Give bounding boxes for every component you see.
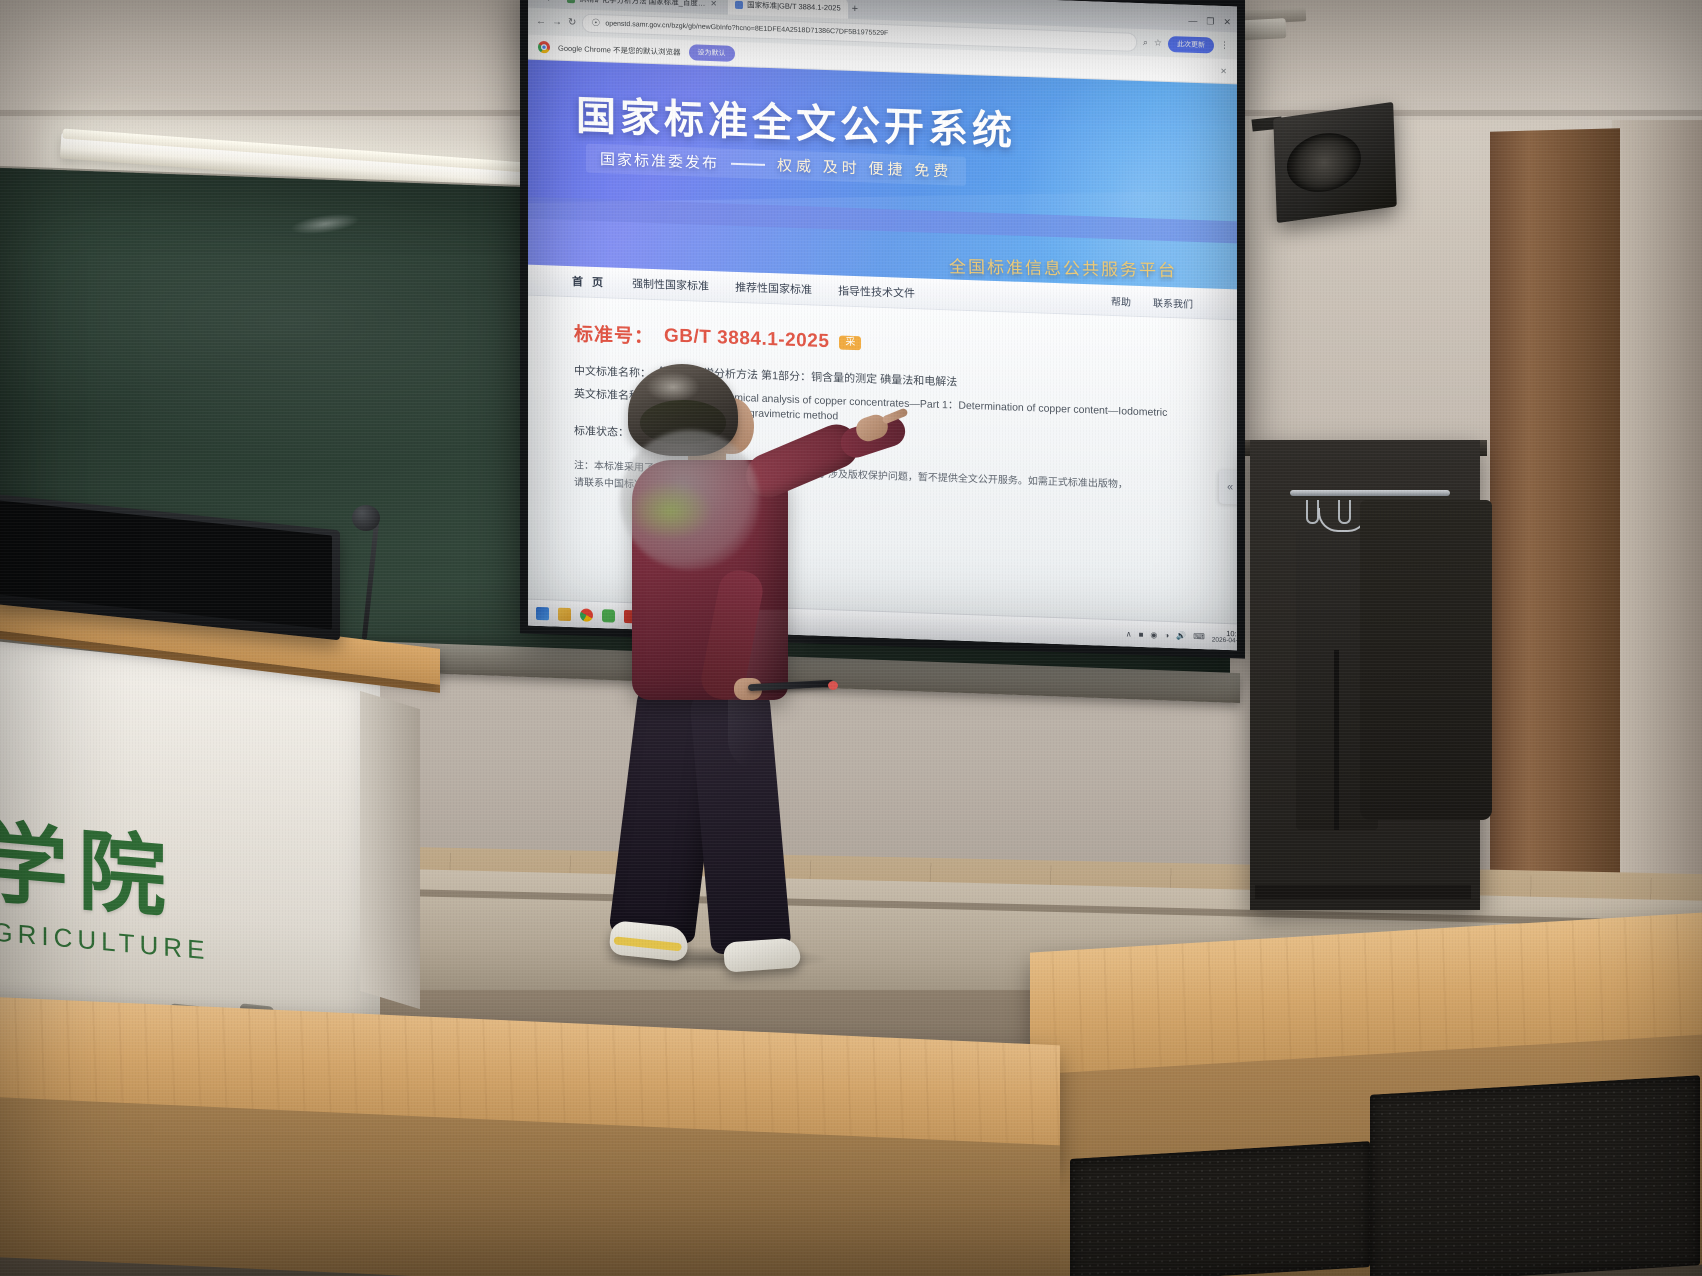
hanging-coat xyxy=(1360,500,1492,820)
close-icon[interactable]: ✕ xyxy=(710,0,717,8)
presenter-shadow-green-tint xyxy=(628,482,712,540)
address-bar-url: openstd.samr.gov.cn/bzgk/gb/newGbInfo?hc… xyxy=(605,20,888,37)
wall-speaker xyxy=(1273,102,1397,223)
subtitle-divider xyxy=(731,162,765,165)
close-icon[interactable]: ✕ xyxy=(1220,66,1227,75)
clock-date: 2026-04-08 xyxy=(1212,637,1237,645)
institution-logo-chinese: 学院 xyxy=(0,791,176,935)
desk-speaker-grille-center xyxy=(1070,1141,1370,1276)
tab-favicon xyxy=(567,0,575,3)
system-tray: ∧ ■ ◉ ◑ 🔊 ⌨ 10:50 2026-04-08 xyxy=(1126,626,1237,645)
tray-expand-icon[interactable]: ∧ xyxy=(1126,629,1132,638)
start-icon[interactable] xyxy=(536,606,549,619)
overflow-menu-icon[interactable]: ⋮ xyxy=(1220,40,1229,51)
right-wall-panel xyxy=(1612,120,1702,920)
laser-pointer-tip-icon xyxy=(828,681,838,690)
tab-title: 铜精矿化学分析方法 国家标准_百度搜索 xyxy=(579,0,706,9)
tray-volume-icon[interactable]: 🔊 xyxy=(1176,631,1186,640)
forward-icon[interactable]: → xyxy=(552,16,562,27)
close-window-icon[interactable]: ✕ xyxy=(1223,17,1231,28)
chrome-logo-icon xyxy=(538,41,550,53)
nav-item-mandatory-standards[interactable]: 强制性国家标准 xyxy=(632,275,709,294)
tab-title: 国家标准|GB/T 3884.1-2025 xyxy=(747,0,841,14)
platform-seal: 全国标准信息公共服务平台 xyxy=(949,252,1177,281)
browser-nav-mini: ↻ ⇄ xyxy=(534,0,554,9)
update-button[interactable]: 此次更新 xyxy=(1168,35,1214,53)
maximize-icon[interactable]: ❐ xyxy=(1206,16,1214,27)
standard-number-value: GB/T 3884.1-2025 xyxy=(664,325,829,353)
site-settings-icon[interactable]: ⇄ xyxy=(547,0,555,4)
lectern-side xyxy=(360,691,420,1009)
site-subtitle-right: 权威 及时 便捷 免费 xyxy=(777,154,952,181)
presenter-hair-highlight xyxy=(646,372,700,402)
nav-item-home[interactable]: 首 页 xyxy=(572,273,606,290)
reload-icon[interactable]: ↻ xyxy=(568,17,576,28)
nav-item-help[interactable]: 帮助 xyxy=(1111,292,1131,308)
presenter-shoe-right xyxy=(723,937,801,972)
microphone-icon xyxy=(352,505,380,531)
nav-item-guidance-documents[interactable]: 指导性技术文件 xyxy=(838,282,915,301)
back-icon[interactable]: ← xyxy=(536,16,546,27)
infobar-message: Google Chrome 不是您的默认浏览器 xyxy=(558,42,681,57)
tray-battery-icon[interactable]: ◑ xyxy=(1164,630,1169,639)
adopted-badge: 采 xyxy=(839,335,861,350)
nav-right-group: 帮助 联系我们 xyxy=(1111,292,1193,310)
search-icon[interactable]: ⌕ xyxy=(1143,37,1148,48)
tab-favicon xyxy=(735,0,743,8)
site-subtitle-left: 国家标准委发布 xyxy=(600,148,719,173)
taskbar-clock[interactable]: 10:50 2026-04-08 xyxy=(1212,629,1237,645)
site-hero-banner: 国家标准全文公开系统 国家标准委发布 权威 及时 便捷 免费 全国标准信息公共服… xyxy=(528,60,1237,290)
new-tab-icon[interactable]: + xyxy=(852,3,858,19)
nav-item-recommended-standards[interactable]: 推荐性国家标准 xyxy=(735,279,812,298)
speaker-grille xyxy=(1286,128,1362,196)
coat-rack-base xyxy=(1255,885,1471,899)
standard-number-label: 标准号： xyxy=(574,319,654,349)
door-frame xyxy=(1490,128,1620,891)
collapse-sidebar-button[interactable]: « xyxy=(1219,470,1237,505)
tray-network-icon[interactable]: ◉ xyxy=(1150,630,1157,639)
reload-icon[interactable]: ↻ xyxy=(534,0,542,3)
set-default-button[interactable]: 设为默认 xyxy=(689,44,735,62)
nav-item-contact-us[interactable]: 联系我们 xyxy=(1153,294,1193,310)
lock-icon: ☉ xyxy=(591,18,600,29)
tray-app-icon[interactable]: ■ xyxy=(1139,629,1144,638)
tray-ime-icon[interactable]: ⌨ xyxy=(1193,631,1205,640)
bookmark-star-icon[interactable]: ☆ xyxy=(1154,37,1162,48)
coat-rack-rail xyxy=(1290,490,1450,496)
minimize-icon[interactable]: — xyxy=(1188,16,1197,27)
classroom-photo-scene: ↻ ⇄ 铜精矿化学分析方法 国家标准_百度搜索 ✕ 国家标准|GB/T 3884… xyxy=(0,0,1702,1276)
desk-speaker-grille-right xyxy=(1370,1075,1700,1276)
